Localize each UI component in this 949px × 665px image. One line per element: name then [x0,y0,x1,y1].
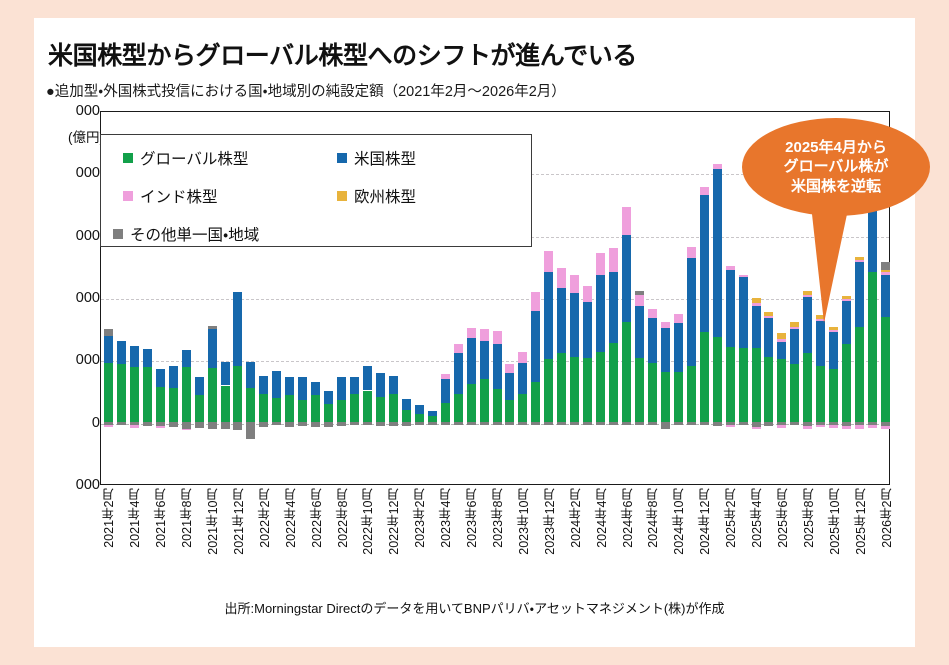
bar-segment-negative [104,425,113,427]
legend-swatch-icon [113,229,123,239]
legend-item[interactable]: 米国株型 [337,147,416,169]
x-axis-ticks: 2021年2月2021年4月2021年6月2021年8月2021年10月2021… [100,488,890,588]
bar-segment [415,414,424,421]
x-axis-tick-label: 2025年4月 [747,488,766,548]
bar-segment [609,248,618,272]
bar-segment [493,344,502,389]
y-axis-tick-label: 000 [76,352,100,368]
chart-bar [583,110,592,484]
bar-segment [104,329,113,335]
callout-line-1: 2025年4月から [785,138,887,157]
bar-segment-negative [816,425,825,427]
bar-segment-negative [285,422,294,427]
bar-segment [104,336,113,363]
bar-segment [829,332,838,369]
bar-segment [635,291,644,295]
bar-segment [661,322,670,328]
bar-segment [583,358,592,422]
bar-segment-negative [480,422,489,425]
x-axis-tick-label: 2025年10月 [825,488,844,555]
x-axis-tick-label: 2021年8月 [177,488,196,548]
bar-segment-negative [350,422,359,425]
bar-segment-negative [259,422,268,427]
bar-segment [221,386,230,422]
bar-segment-negative [855,425,864,428]
bar-segment [130,367,139,422]
bar-segment [454,353,463,394]
bar-segment [700,332,709,422]
bar-segment-negative [156,426,165,428]
bar-segment [661,328,670,372]
bar-segment-negative [635,422,644,425]
y-axis-ticks: 0000000000000000000 [24,111,100,485]
bar-segment [156,369,165,386]
bar-segment [493,389,502,421]
bar-segment [182,367,191,421]
bar-segment [156,387,165,422]
legend-swatch-icon [337,153,347,163]
legend-item[interactable]: 欧州株型 [337,185,416,207]
legend-label: 米国株型 [354,147,416,169]
bar-segment [454,344,463,353]
bar-segment [259,394,268,421]
bar-segment [467,338,476,384]
bar-segment-negative [764,422,773,426]
bar-segment [324,404,333,421]
bar-segment [259,376,268,395]
chart-bar [557,110,566,484]
bar-segment-negative [661,422,670,429]
bar-segment [428,411,437,416]
bar-segment [596,352,605,422]
bar-segment [104,363,113,422]
bar-segment-negative [311,422,320,428]
bar-segment [285,395,294,422]
bar-segment [544,251,553,272]
bar-segment [713,169,722,337]
bar-segment-negative [596,422,605,426]
legend-label: 欧州株型 [354,185,416,207]
bar-segment [311,382,320,396]
bar-segment [272,398,281,422]
bar-segment [674,323,683,372]
x-axis-tick-label: 2024年2月 [566,488,585,548]
bar-segment [143,367,152,421]
bar-segment [583,286,592,302]
y-axis-tick-label: 000 [76,228,100,244]
bar-segment [117,341,126,365]
bar-segment [557,353,566,422]
bar-segment [467,328,476,338]
bar-segment [246,388,255,422]
bar-segment-negative [583,422,592,425]
page-title: 米国株型からグローバル株型へのシフトが進んでいる [48,36,637,72]
bar-segment-negative [454,422,463,425]
x-axis-tick-label: 2021年6月 [151,488,170,548]
bar-segment-negative [829,425,838,427]
bar-segment [557,288,566,353]
x-axis-tick-label: 2025年12月 [851,488,870,555]
bar-segment-negative [687,422,696,425]
x-axis-tick-label: 2023年12月 [540,488,559,555]
bar-segment-negative [363,422,372,426]
bar-segment [674,372,683,422]
bar-segment [596,275,605,352]
bar-segment [609,343,618,422]
bar-segment [402,410,411,421]
bar-segment [583,302,592,358]
bar-segment-negative [376,422,385,426]
legend-item[interactable]: インド株型 [123,185,218,207]
bar-segment [363,366,372,391]
x-axis-tick-label: 2025年6月 [773,488,792,548]
bar-segment [842,344,851,421]
bar-segment [298,400,307,421]
x-axis-tick-label: 2021年4月 [125,488,144,548]
legend-swatch-icon [123,191,133,201]
legend-swatch-icon [337,191,347,201]
bar-segment [622,322,631,422]
y-axis-tick-label: 000 [76,477,100,493]
bar-segment [221,362,230,386]
bar-segment [298,377,307,401]
x-axis-tick-label: 2021年2月 [99,488,118,548]
x-axis-tick-label: 2023年2月 [410,488,429,548]
bar-segment [816,366,825,422]
source-note: 出所:Morningstar Directのデータを用いてBNPパリバ・アセット… [34,598,915,617]
legend-item[interactable]: グローバル株型 [123,147,248,169]
bar-segment [195,377,204,396]
bar-segment-negative [221,422,230,429]
bar-segment [635,295,644,306]
bar-segment [169,366,178,388]
chart-bar [531,110,540,484]
bar-segment [441,379,450,403]
bar-segment [233,366,242,422]
bar-segment-negative [713,422,722,426]
bar-segment [518,363,527,394]
bar-segment [661,372,670,422]
callout-annotation: 2025年4月から グローバル株が 米国株を逆転 [732,118,932,333]
legend-swatch-icon [123,153,133,163]
x-axis-tick-label: 2024年6月 [618,488,637,548]
bar-segment-negative [557,422,566,425]
legend-label: その他単一国・地域 [130,223,259,245]
chart-bar [661,110,670,484]
bar-segment [635,358,644,422]
x-axis-tick-label: 2024年4月 [592,488,611,548]
chart-bar [635,110,644,484]
chart-bar [544,110,553,484]
bar-segment [505,400,514,421]
bar-segment [726,347,735,422]
bar-segment [531,311,540,382]
bar-segment [233,292,242,366]
bar-segment-negative [441,422,450,425]
legend-label: インド株型 [140,185,218,207]
x-axis-tick-label: 2023年8月 [488,488,507,548]
bar-segment [117,364,126,421]
bar-segment-negative [233,422,242,430]
chart-bar [687,110,696,484]
bar-segment [635,306,644,358]
bar-segment [285,377,294,394]
bar-segment [855,327,864,422]
chart-bar [596,110,605,484]
bar-segment-negative [777,425,786,427]
bar-segment [389,376,398,395]
bar-segment [700,195,709,332]
bar-segment [622,235,631,322]
bar-segment-negative [544,422,553,425]
x-axis-tick-label: 2022年10月 [358,488,377,555]
bar-segment-negative [415,422,424,426]
bar-segment-negative [337,422,346,426]
callout-bubble: 2025年4月から グローバル株が 米国株を逆転 [742,118,930,216]
bar-segment-negative [493,422,502,426]
x-axis-tick-label: 2022年6月 [307,488,326,548]
chart-subtitle: ●追加型・外国株式投信における国・地域別の純設定額（2021年2月～2026年2… [46,80,566,101]
x-axis-tick-label: 2022年4月 [281,488,300,548]
bar-segment [337,400,346,421]
x-axis-tick-label: 2022年12月 [384,488,403,555]
bar-segment [169,388,178,422]
bar-segment [493,331,502,345]
bar-segment-negative [402,422,411,426]
bar-segment [518,352,527,363]
x-axis-tick-label: 2023年10月 [514,488,533,555]
x-axis-tick-label: 2023年6月 [462,488,481,548]
bar-segment-negative [674,422,683,425]
bar-segment [687,258,696,365]
bar-segment-negative [208,422,217,429]
bar-segment [790,329,799,364]
bar-segment [208,329,217,368]
chart-bar [570,110,579,484]
bar-segment [402,399,411,410]
chart-bar [622,110,631,484]
bar-segment [518,394,527,421]
bar-segment-negative [570,422,579,425]
bar-segment [480,379,489,421]
x-axis-tick-label: 2026年2月 [877,488,896,548]
y-axis-unit: (億円) [30,126,104,146]
bar-segment [829,369,838,421]
bar-segment [208,368,217,422]
bar-segment-negative [531,422,540,426]
bar-segment-negative [298,422,307,426]
bar-segment [350,377,359,394]
bar-segment-negative [195,422,204,428]
x-axis-tick-label: 2025年2月 [721,488,740,548]
bar-segment-negative [868,425,877,427]
bar-segment-negative [700,422,709,426]
bar-segment-negative [272,422,281,426]
y-axis-tick-label: 000 [76,103,100,119]
bar-segment-negative [428,422,437,426]
bar-segment [713,164,722,169]
bar-segment [557,268,566,288]
bar-segment-negative [182,422,191,429]
legend-label: グローバル株型 [140,147,248,169]
bar-segment [570,357,579,422]
y-axis-tick-label: 000 [76,290,100,306]
bar-segment [544,359,553,421]
bar-segment-negative [803,426,812,428]
x-axis-tick-label: 2024年8月 [643,488,662,548]
bar-segment-negative [324,422,333,427]
bar-segment [609,272,618,343]
bar-segment [467,384,476,421]
bar-segment-negative [182,429,191,431]
bar-segment [363,391,372,422]
bar-segment [376,397,385,422]
bar-segment [454,394,463,421]
bar-segment-negative [609,422,618,425]
bar-segment [389,394,398,421]
bar-segment [648,309,657,318]
bar-segment-negative [752,427,761,429]
bar-segment [182,350,191,367]
bar-segment-negative [505,422,514,425]
bar-segment [337,377,346,401]
y-axis-tick-label: 0 [92,415,100,431]
bar-segment [505,364,514,373]
bar-segment-negative [169,422,178,428]
chart-bar [700,110,709,484]
bar-segment-negative [143,422,152,426]
x-axis-tick-label: 2022年8月 [333,488,352,548]
bar-segment [570,275,579,294]
bar-segment [531,292,540,311]
bar-segment [415,405,424,414]
bar-segment [777,333,786,339]
bar-segment-negative [881,426,890,428]
bar-segment [777,339,786,341]
bar-segment [441,374,450,379]
bar-segment [700,187,709,194]
bar-segment [648,363,657,422]
x-axis-tick-label: 2025年8月 [799,488,818,548]
bar-segment [143,349,152,368]
chart-bar [648,110,657,484]
bar-segment [324,391,333,405]
bar-segment-negative [648,422,657,426]
bar-segment-negative [246,422,255,439]
bar-segment [803,353,812,422]
bar-segment [195,395,204,421]
bar-segment [376,373,385,397]
chart-bar [713,110,722,484]
x-axis-tick-label: 2024年10月 [669,488,688,555]
chart-bar [609,110,618,484]
bar-segment-negative [790,422,799,426]
bar-segment [246,362,255,388]
bar-segment-negative [726,425,735,427]
bar-segment [311,395,320,421]
chart-legend: グローバル株型米国株型インド株型欧州株型その他単一国・地域 [100,134,532,247]
bar-segment [544,272,553,359]
bar-segment [350,394,359,421]
bar-segment [505,373,514,400]
callout-line-3: 米国株を逆転 [791,177,881,196]
bar-segment [596,253,605,274]
x-axis-tick-label: 2023年4月 [436,488,455,548]
chart-bar [674,110,683,484]
bar-segment-negative [130,425,139,427]
bar-segment [739,348,748,422]
bar-segment-negative [518,422,527,426]
bar-segment-negative [467,422,476,425]
bar-segment-negative [117,422,126,426]
bar-segment [570,293,579,357]
y-axis-tick-label: 000 [76,165,100,181]
bar-segment [713,337,722,422]
chart-card: 米国株型からグローバル株型へのシフトが進んでいる ●追加型・外国株式投信における… [34,18,915,647]
bar-segment [531,382,540,422]
bar-segment [480,341,489,380]
bar-segment [764,357,773,422]
bar-segment [622,207,631,234]
bar-segment [480,329,489,340]
bar-segment [648,318,657,363]
bar-segment [272,371,281,398]
bar-segment-negative [389,422,398,426]
bar-segment [674,314,683,323]
bar-segment [208,326,217,330]
bar-segment [687,247,696,258]
bar-segment-negative [739,422,748,426]
x-axis-tick-label: 2021年12月 [229,488,248,555]
x-axis-tick-label: 2022年2月 [255,488,274,548]
x-axis-tick-label: 2021年10月 [203,488,222,555]
bar-segment-negative [842,426,851,428]
bar-segment [687,366,696,422]
legend-item[interactable]: その他単一国・地域 [113,223,259,245]
bar-segment [790,364,799,421]
x-axis-tick-label: 2024年12月 [695,488,714,555]
bar-segment [441,403,450,422]
bar-segment [777,359,786,421]
bar-segment [130,346,139,367]
bar-segment [777,342,786,359]
callout-line-2: グローバル株が [784,157,889,176]
bar-segment-negative [622,422,631,425]
bar-segment [752,348,761,422]
